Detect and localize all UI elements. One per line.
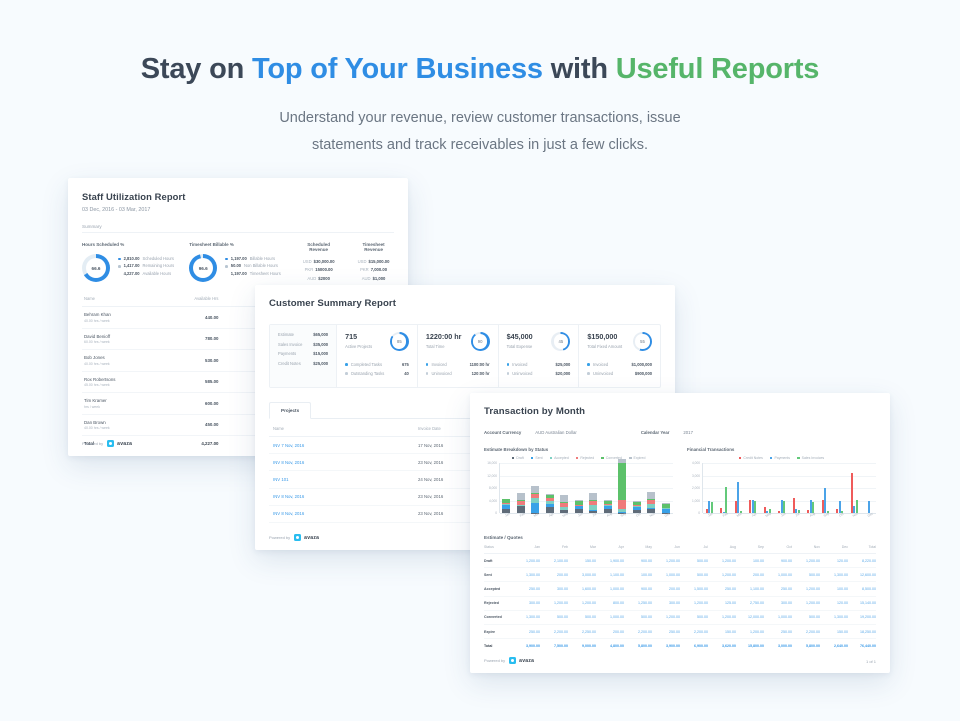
estimate-breakdown-chart: Estimate Breakdown by Status DraftSentAc… — [484, 447, 673, 523]
invoice-name-link[interactable]: INV 101 — [269, 471, 414, 488]
bar — [824, 488, 826, 513]
status-cell: Sent — [484, 568, 512, 582]
bar-group — [514, 463, 529, 513]
stat-card-total-time[interactable]: 1220:00 hrTotal Time90Invoiced1100:00 hr… — [418, 325, 499, 387]
status-cell: Accepted — [484, 582, 512, 596]
revenue-line: PKR7,000.00 — [353, 267, 394, 272]
transaction-report-title: Transaction by Month — [484, 406, 876, 417]
available-hours-cell: 440.00 — [163, 307, 225, 329]
bar-group — [615, 463, 630, 513]
bar-group — [760, 463, 775, 513]
total-amount-cell: 9,000.00 — [568, 639, 596, 653]
revenue-value: 15000.00 — [315, 267, 332, 272]
amount-cell: 250.00 — [708, 582, 736, 596]
available-hours-cell: 450.00 — [163, 414, 225, 436]
amount-cell: 120.00 — [820, 554, 848, 568]
meta-value-currency: AUD Australian Dollar — [535, 430, 577, 435]
key-value-row: Sales Invoice$35,000 — [278, 342, 328, 347]
estimate-quotes-title: Estimate / Quotes — [484, 535, 876, 540]
stat-row-label-text: Outstanding Tasks — [351, 371, 385, 376]
total-label: Total — [484, 639, 512, 653]
key-value: $15,000 — [313, 351, 328, 356]
page-number: 1 of 1 — [866, 659, 876, 664]
status-dot-icon — [507, 372, 510, 375]
amount-cell: 1,200.00 — [792, 582, 820, 596]
avaza-brand-name: avaza — [519, 658, 534, 664]
stat-row-label-text: Uninvoiced — [593, 371, 613, 376]
bar-group — [499, 463, 514, 513]
customer-key-values: Estimate$65,000Sales Invoice$35,000Payme… — [270, 325, 337, 387]
table-total-row: Total3,900.007,500.009,000.004,800.005,8… — [484, 639, 876, 653]
staff-name: Behram Khan — [84, 312, 157, 317]
staff-report-title: Staff Utilization Report — [82, 191, 394, 202]
page-title-part2: with — [543, 53, 616, 85]
bar-segment — [531, 486, 539, 493]
stat-card-total-expense[interactable]: $45,000Total Expense45Invoiced$25,000Uni… — [499, 325, 580, 387]
bar-group — [601, 463, 616, 513]
legend-item: Payments — [770, 456, 790, 460]
staff-name: Rox Robertsons — [84, 377, 157, 382]
status-cell: Rejected — [484, 596, 512, 610]
x-axis: JanFebMarAprMayJunJulAugSepOctNovDec — [702, 513, 876, 523]
stat-ring-value: 45 — [551, 332, 570, 351]
staff-name-cell: Bob Jones40.00 hrs / week — [82, 350, 163, 372]
timesheet-revenue-heading: Timesheet Revenue — [353, 242, 394, 252]
revenue-value: $15,000.00 — [369, 259, 390, 264]
chart-legend: Credit NotesPaymentsSales Invoices — [687, 456, 876, 460]
hours-scheduled-heading: Hours Scheduled % — [82, 242, 189, 247]
amount-cell: 800.00 — [596, 596, 624, 610]
y-tick-label: 8,000 — [489, 486, 497, 490]
hours-scheduled-block: Hours Scheduled % 66.6 2,810.00Scheduled… — [82, 242, 189, 284]
column-header: Aug — [708, 545, 736, 554]
bar-group — [630, 463, 645, 513]
page-title-highlight-green: Useful Reports — [616, 53, 819, 85]
stat-top: $150,000Total Fixed Amount55 — [587, 332, 652, 351]
legend-swatch-icon — [797, 457, 800, 460]
stat-row-label-text: Invoiced — [593, 362, 608, 367]
total-amount-cell: 5,800.00 — [624, 639, 652, 653]
stat-row-value: 40 — [404, 371, 409, 376]
revenue-line: AUD$2000 — [298, 276, 339, 281]
amount-cell: 1,200.00 — [708, 568, 736, 582]
bar-group — [659, 463, 674, 513]
amount-cell: 120.00 — [820, 596, 848, 610]
amount-cell: 300.00 — [512, 596, 540, 610]
amount-cell: 1,200.00 — [652, 610, 680, 624]
key-label: Estimate — [278, 332, 294, 337]
revenue-currency: PKR — [305, 267, 314, 272]
legend-label: Available Hours — [143, 272, 172, 276]
stat-row: Uninvoiced$20,000 — [507, 371, 571, 376]
amount-cell: 2,750.00 — [736, 596, 764, 610]
row-total-cell: 8,500.00 — [848, 582, 876, 596]
amount-cell: 300.00 — [652, 596, 680, 610]
stat-ring-gauge: 90 — [471, 332, 490, 351]
revenue-currency: USD — [303, 259, 312, 264]
status-cell: Converted — [484, 610, 512, 624]
page-title: Stay on Top of Your Business with Useful… — [0, 52, 960, 87]
amount-cell: 150.00 — [820, 624, 848, 638]
revenue-line: AUD$1,000 — [353, 276, 394, 281]
column-header: Mar — [568, 545, 596, 554]
bar-segment — [647, 492, 655, 499]
legend-item: Sales Invoices — [797, 456, 824, 460]
stat-ring-gauge: 85 — [390, 332, 409, 351]
powered-by-footer: Powered by avaza — [269, 534, 319, 541]
bar-group — [543, 463, 558, 513]
legend-line: 1,197.00Billable Hours — [225, 257, 281, 261]
invoice-name-link[interactable]: INV 7 Nov, 2016 — [269, 437, 414, 454]
amount-cell: 250.00 — [652, 624, 680, 638]
stat-value: 1220:00 hr — [426, 332, 462, 341]
revenue-value: 7,000.00 — [371, 267, 387, 272]
total-amount-cell: 7,500.00 — [540, 639, 568, 653]
stat-ring-value: 85 — [390, 332, 409, 351]
legend-swatch-icon — [601, 457, 604, 460]
amount-cell: 200.00 — [736, 568, 764, 582]
stat-card-active-projects[interactable]: 715Active Projects85Completed Tasks675Ou… — [337, 325, 418, 387]
page-title-part1: Stay on — [141, 53, 252, 85]
staff-hours-per-week: 40.00 hrs / week — [84, 426, 157, 430]
row-total-cell: 18,250.00 — [848, 624, 876, 638]
stat-row-label-text: Uninvoiced — [431, 371, 451, 376]
y-tick-label: 2,000 — [692, 486, 700, 490]
total-available: 4,227.00 — [163, 436, 225, 452]
bar-group — [644, 463, 659, 513]
legend-line: 4,227.00Available Hours — [118, 272, 174, 276]
stat-row-value: 120:00 hr — [472, 371, 490, 376]
timesheet-billable-gauge: 96.6 — [189, 254, 217, 282]
revenue-currency: USD — [358, 259, 367, 264]
status-dot-icon — [587, 363, 590, 366]
legend-label: Draft — [516, 456, 524, 460]
amount-cell: 100.00 — [624, 568, 652, 582]
revenue-value: $1,000 — [373, 276, 386, 281]
column-header: Jul — [680, 545, 708, 554]
amount-cell: 200.00 — [596, 624, 624, 638]
stat-ring-gauge: 45 — [551, 332, 570, 351]
amount-cell: 250.00 — [764, 582, 792, 596]
amount-cell: 2,200.00 — [540, 624, 568, 638]
invoice-name-link[interactable]: INV 8 Nov, 2016 — [269, 488, 414, 505]
bar-group — [847, 463, 862, 513]
status-dot-icon — [345, 363, 348, 366]
bar-group — [833, 463, 848, 513]
legend-value: 1,197.00 — [231, 272, 247, 276]
scheduled-revenue-block: Scheduled Revenue USD$30,000.00PKR15000.… — [298, 242, 339, 284]
key-value: $35,000 — [313, 342, 328, 347]
amount-cell: 1,000.00 — [596, 610, 624, 624]
amount-cell: 1,200.00 — [680, 596, 708, 610]
legend-dot-icon — [118, 265, 121, 268]
invoice-name-link[interactable]: INV 8 Nov, 2016 — [269, 454, 414, 471]
amount-cell: 1,300.00 — [512, 568, 540, 582]
column-header: Feb — [540, 545, 568, 554]
amount-cell: 300.00 — [540, 582, 568, 596]
stat-row-label: Uninvoiced — [507, 371, 533, 376]
amount-cell: 500.00 — [680, 568, 708, 582]
y-tick-label: 0 — [698, 511, 700, 515]
bar-group — [862, 463, 877, 513]
timesheet-billable-heading: Timesheet Billable % — [189, 242, 298, 247]
legend-label: Timesheet Hours — [250, 272, 281, 276]
stat-row-value: $20,000 — [556, 371, 571, 376]
legend-label: Scheduled Hours — [143, 257, 174, 261]
stat-row-label-text: Completed Tasks — [351, 362, 382, 367]
total-amount-cell: 6,900.00 — [680, 639, 708, 653]
column-header: Jun — [652, 545, 680, 554]
powered-by-label: Powered by — [484, 658, 505, 663]
legend-swatch-icon — [629, 457, 632, 460]
legend-value: 4,227.00 — [124, 272, 140, 276]
stat-row-label: Uninvoiced — [587, 371, 613, 376]
amount-cell: 1,000.00 — [764, 610, 792, 624]
bar — [868, 501, 870, 514]
legend-line: 1,197.00Timesheet Hours — [225, 272, 281, 276]
staff-name: Tim Kramer — [84, 398, 157, 403]
bar-group — [528, 463, 543, 513]
amount-cell: 1,200.00 — [568, 596, 596, 610]
stat-row-label: Completed Tasks — [345, 362, 382, 367]
timesheet-billable-legend: 1,197.00Billable Hours50.00Non Billable … — [225, 257, 281, 279]
staff-name: David Benioff — [84, 334, 157, 339]
amount-cell: 500.00 — [624, 610, 652, 624]
status-dot-icon — [587, 372, 590, 375]
status-cell: Draft — [484, 554, 512, 568]
bar-segment — [618, 463, 626, 501]
row-total-cell: 8,220.00 — [848, 554, 876, 568]
legend-label: Expired — [634, 456, 646, 460]
timesheet-billable-gauge-value: 96.6 — [189, 254, 217, 282]
column-header: Apr — [596, 545, 624, 554]
grand-total-cell: 76,440.00 — [848, 639, 876, 653]
bar-group — [775, 463, 790, 513]
avaza-logo-icon — [509, 657, 516, 664]
available-hours-cell: 600.00 — [163, 393, 225, 415]
amount-cell: 1,600.00 — [568, 582, 596, 596]
amount-cell: 1,300.00 — [512, 610, 540, 624]
avaza-brand-name: avaza — [304, 535, 319, 541]
avaza-logo-icon — [294, 534, 301, 541]
stat-caption: Active Projects — [345, 344, 372, 349]
financial-transactions-chart: Financial Transactions Credit NotesPayme… — [687, 447, 876, 523]
key-value: $25,000 — [313, 361, 328, 366]
stat-top: 1220:00 hrTotal Time90 — [426, 332, 490, 351]
amount-cell: 500.00 — [568, 610, 596, 624]
page-title-highlight-blue: Top of Your Business — [252, 53, 543, 85]
staff-name-cell: Tim Kramerhrs / week — [82, 393, 163, 415]
amount-cell: 150.00 — [708, 624, 736, 638]
amount-cell: 150.00 — [568, 554, 596, 568]
total-amount-cell: 3,620.00 — [708, 639, 736, 653]
legend-item: Rejected — [576, 456, 594, 460]
legend-dot-icon — [118, 258, 121, 261]
legend-swatch-icon — [512, 457, 515, 460]
key-value-row: Credit Notes$25,000 — [278, 361, 328, 366]
stat-card-total-fixed-amount[interactable]: $150,000Total Fixed Amount55Invoiced$1,0… — [579, 325, 660, 387]
amount-cell: 900.00 — [764, 554, 792, 568]
amount-cell: 500.00 — [792, 568, 820, 582]
page-subtitle-line1: Understand your revenue, review customer… — [279, 110, 680, 126]
stat-row-value: $900,000 — [635, 371, 652, 376]
legend-line: 1,417.00Remaining Hours — [118, 264, 174, 268]
stacked-bar — [531, 486, 539, 513]
table-header-row: StatusJanFebMarAprMayJunJulAugSepOctNovD… — [484, 545, 876, 554]
amount-cell: 200.00 — [652, 582, 680, 596]
stat-ring-gauge: 55 — [633, 332, 652, 351]
meta-value-year: 2017 — [683, 430, 693, 435]
chart-plot-area: 04,0008,00012,00016,000JanFebMarAprMayJu… — [484, 463, 673, 523]
hours-scheduled-gauge: 66.6 — [82, 254, 110, 282]
stat-top: $45,000Total Expense45 — [507, 332, 571, 351]
column-header: Total — [848, 545, 876, 554]
y-tick-label: 4,000 — [692, 461, 700, 465]
page-subtitle-line2: statements and track receivables in just… — [312, 137, 648, 153]
amount-cell: 1,200.00 — [652, 554, 680, 568]
legend-value: 1,197.00 — [231, 257, 247, 261]
scheduled-revenue-heading: Scheduled Revenue — [298, 242, 339, 252]
bar-segment — [589, 493, 597, 500]
y-tick-label: 16,000 — [487, 461, 497, 465]
stat-row-label-text: Invoiced — [431, 362, 446, 367]
amount-cell: 200.00 — [540, 568, 568, 582]
hours-scheduled-legend: 2,810.00Scheduled Hours1,417.00Remaining… — [118, 257, 174, 279]
stat-value: $150,000 — [587, 332, 622, 341]
y-axis: 01,0002,0003,0004,000 — [687, 463, 702, 513]
available-hours-cell: 585.00 — [163, 371, 225, 393]
amount-cell: 900.00 — [624, 554, 652, 568]
amount-cell: 300.00 — [764, 596, 792, 610]
x-axis: JanFebMarAprMayJunJulAugSepOctNovDec — [499, 513, 673, 523]
legend-item: Credit Notes — [739, 456, 763, 460]
staff-name-cell: Behram Khan40.00 hrs / week — [82, 307, 163, 329]
column-header: Status — [484, 545, 512, 554]
stat-row: Completed Tasks675 — [345, 362, 409, 367]
legend-label: Remaining Hours — [143, 264, 175, 268]
table-row: Accepted250.00300.001,600.001,000.00900.… — [484, 582, 876, 596]
revenue-value: $30,000.00 — [314, 259, 335, 264]
total-amount-cell: 5,800.00 — [792, 639, 820, 653]
amount-cell: 250.00 — [764, 624, 792, 638]
stat-row-label: Outstanding Tasks — [345, 371, 384, 376]
column-header: Dec — [820, 545, 848, 554]
status-dot-icon — [345, 372, 348, 375]
customer-stat-strip: Estimate$65,000Sales Invoice$35,000Payme… — [269, 324, 661, 388]
legend-label: Sent — [535, 456, 542, 460]
column-header: Name — [82, 296, 163, 307]
avaza-brand-name: avaza — [117, 441, 132, 447]
meta-key-currency: Account Currency — [484, 430, 521, 435]
amount-cell: 3,000.00 — [568, 568, 596, 582]
legend-value: 50.00 — [231, 264, 241, 268]
y-tick-label: 3,000 — [692, 474, 700, 478]
revenue-line: USD$15,000.00 — [353, 259, 394, 264]
stat-row-label: Invoiced — [507, 362, 528, 367]
amount-cell: 2,100.00 — [540, 554, 568, 568]
legend-swatch-icon — [770, 457, 773, 460]
invoice-name-link[interactable]: INV 8 Nov, 2016 — [269, 505, 414, 522]
key-value-row: Payments$15,000 — [278, 351, 328, 356]
amount-cell: 1,100.00 — [596, 568, 624, 582]
legend-value: 1,417.00 — [124, 264, 140, 268]
stat-left: $45,000Total Expense — [507, 332, 533, 349]
bar-group — [702, 463, 717, 513]
column-header: May — [624, 545, 652, 554]
key-label: Payments — [278, 351, 296, 356]
amount-cell: 1,200.00 — [792, 596, 820, 610]
y-tick-label: 12,000 — [487, 474, 497, 478]
legend-value: 2,810.00 — [124, 257, 140, 261]
available-hours-cell: 780.00 — [163, 328, 225, 350]
column-header: Name — [269, 419, 414, 437]
legend-label: Non Billable Hours — [244, 264, 278, 268]
page-subtitle: Understand your revenue, review customer… — [0, 105, 960, 159]
stat-rows: Invoiced$25,000Uninvoiced$20,000 — [507, 362, 571, 376]
stat-row-value: 675 — [402, 362, 409, 367]
status-dot-icon — [507, 363, 510, 366]
bar — [725, 487, 727, 513]
legend-item: Expired — [629, 456, 645, 460]
legend-item: Sent — [531, 456, 543, 460]
transaction-meta-row: Account Currency AUD Australian Dollar C… — [484, 430, 876, 435]
revenue-currency: AUD — [307, 276, 316, 281]
amount-cell: 2,250.00 — [568, 624, 596, 638]
transaction-by-month-report-card[interactable]: Transaction by Month Account Currency AU… — [470, 393, 890, 673]
staff-name: Bob Jones — [84, 355, 157, 360]
amount-cell: 500.00 — [680, 610, 708, 624]
amount-cell: 500.00 — [792, 610, 820, 624]
amount-cell: 900.00 — [624, 582, 652, 596]
amount-cell: 1,300.00 — [820, 568, 848, 582]
legend-swatch-icon — [576, 457, 579, 460]
bar-group — [804, 463, 819, 513]
bar-group — [572, 463, 587, 513]
total-amount-cell: 4,800.00 — [596, 639, 624, 653]
revenue-line: USD$30,000.00 — [298, 259, 339, 264]
amount-cell: 1,900.00 — [596, 554, 624, 568]
tab-projects[interactable]: Projects — [269, 402, 311, 419]
amount-cell: 1,000.00 — [596, 582, 624, 596]
bar-group — [586, 463, 601, 513]
key-value: $65,000 — [313, 332, 328, 337]
column-header: Nov — [792, 545, 820, 554]
stat-value: $45,000 — [507, 332, 533, 341]
stacked-bar — [618, 459, 626, 513]
bar — [737, 482, 739, 513]
staff-hours-per-week: 40.00 hrs / week — [84, 362, 157, 366]
amount-cell: 500.00 — [680, 554, 708, 568]
stat-caption: Total Time — [426, 344, 462, 349]
total-amount-cell: 15,800.00 — [736, 639, 764, 653]
legend-line: 50.00Non Billable Hours — [225, 264, 281, 268]
legend-swatch-icon — [550, 457, 553, 460]
staff-summary-row: Hours Scheduled % 66.6 2,810.00Scheduled… — [82, 242, 394, 284]
stat-row-value: $1,000,000 — [632, 362, 653, 367]
amount-cell: 1,500.00 — [680, 582, 708, 596]
stat-caption: Total Expense — [507, 344, 533, 349]
staff-hours-per-week: 60.00 hrs / week — [84, 340, 157, 344]
table-row: Expire250.002,200.002,250.00200.002,200.… — [484, 624, 876, 638]
amount-cell: 1,200.00 — [540, 596, 568, 610]
amount-cell: 1,200.00 — [792, 554, 820, 568]
stat-row-value: 1100:00 hr — [470, 362, 490, 367]
legend-swatch-icon — [739, 457, 742, 460]
key-label: Credit Notes — [278, 361, 301, 366]
amount-cell: 125.00 — [708, 596, 736, 610]
row-total-cell: 15,140.00 — [848, 596, 876, 610]
stat-caption: Total Fixed Amount — [587, 344, 622, 349]
